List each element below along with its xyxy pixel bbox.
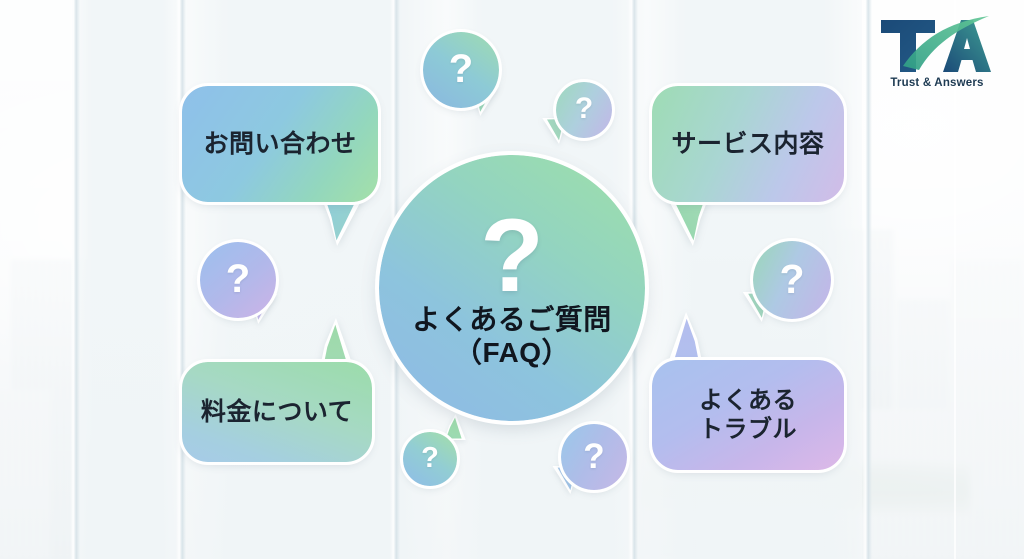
question-mark-icon: ? <box>480 212 544 301</box>
question-mark-icon: ? <box>226 259 250 299</box>
bubble-trouble-label-line1: よくある <box>699 386 797 415</box>
faq-hub-title: よくあるご質問 <box>412 303 612 336</box>
bubble-contact[interactable]: お問い合わせ <box>182 86 378 202</box>
question-mark-bubble-2[interactable]: ? <box>556 82 612 138</box>
question-mark-icon: ? <box>575 94 593 124</box>
question-mark-bubble-3[interactable]: ? <box>200 242 276 318</box>
ta-monogram-icon <box>877 14 997 76</box>
question-mark-icon: ? <box>583 439 604 474</box>
bubble-trouble-label-line2: トラブル <box>699 415 797 444</box>
question-mark-icon: ? <box>449 49 473 89</box>
bubble-trouble[interactable]: よくある トラブル <box>652 360 844 470</box>
bubble-service[interactable]: サービス内容 <box>652 86 844 202</box>
faq-hub-subtitle: （FAQ） <box>454 336 570 370</box>
question-mark-bubble-6[interactable]: ? <box>561 424 627 490</box>
bubble-price-label: 料金について <box>191 397 363 428</box>
bubble-contact-label: お問い合わせ <box>193 129 366 160</box>
bubble-trouble-label: よくある トラブル <box>689 386 807 445</box>
faq-hub-circle[interactable]: ? よくあるご質問 （FAQ） <box>379 155 645 421</box>
question-mark-icon: ? <box>779 259 804 300</box>
faq-diagram: お問い合わせ サービス内容 料金について よくある トラブル ? ? ? ? ?… <box>0 0 1024 559</box>
question-mark-icon: ? <box>421 444 439 473</box>
question-mark-bubble-1[interactable]: ? <box>423 32 499 108</box>
question-mark-bubble-4[interactable]: ? <box>753 241 831 319</box>
question-mark-bubble-5[interactable]: ? <box>403 432 457 486</box>
bubble-service-label: サービス内容 <box>661 129 834 160</box>
brand-tagline: Trust & Answers <box>890 77 983 89</box>
brand-logo[interactable]: Trust & Answers <box>868 14 1006 106</box>
bubble-price[interactable]: 料金について <box>182 362 372 462</box>
